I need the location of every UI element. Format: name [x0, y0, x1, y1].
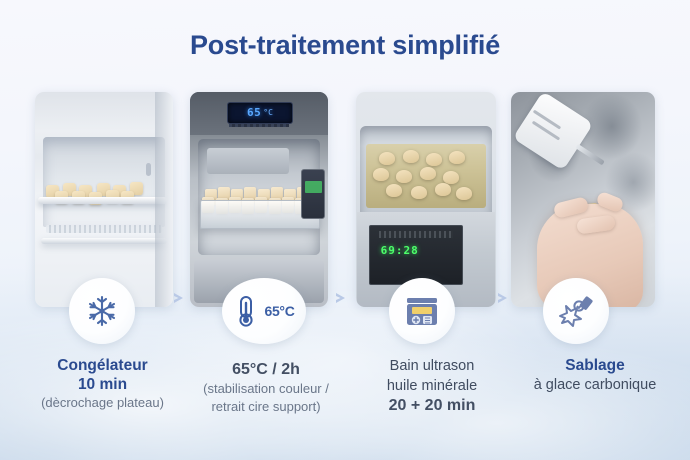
step-1-title: Congélateur [10, 356, 195, 375]
step-4-note: à glace carbonique [500, 375, 690, 395]
step-2-caption: 65°C / 2h (stabilisation couleur / retra… [176, 360, 356, 416]
badge-temperature-label: 65°C [264, 303, 294, 319]
step-2-note-line-1: (stabilisation couleur / [176, 380, 356, 398]
step-3-badge [389, 278, 455, 344]
step-3-title: Bain ultrason [352, 356, 512, 376]
step-2-photo: 65 °C [190, 92, 328, 307]
step-2-oven: 65 °C [190, 92, 328, 307]
step-4-sandblasting [511, 92, 655, 307]
step-4-caption: Sablage à glace carbonique [500, 356, 690, 395]
ultrasonic-cleaner-icon [404, 294, 440, 328]
chevron-right-icon-2 [333, 288, 353, 308]
oven-control-strip [229, 124, 290, 127]
chevron-right-icon-3 [495, 288, 515, 308]
step-4-badge [543, 278, 609, 344]
step-4-title: Sablage [500, 356, 690, 375]
step-4-photo [511, 92, 655, 307]
freezer-door-edge [155, 92, 173, 307]
bath-parts-group [373, 150, 479, 197]
step-1-freezer [35, 92, 173, 307]
sandblaster-sparkle-icon [557, 294, 595, 328]
step-3-photo: 69:28 [356, 92, 496, 307]
step-1-photo [35, 92, 173, 307]
oven-display: 65 °C [227, 102, 292, 124]
step-2-note-line-2: retrait cire support) [176, 398, 356, 416]
oven-display-unit: °C [263, 108, 273, 117]
oven-side-controller [301, 169, 325, 218]
thermometer-icon [233, 294, 259, 328]
bath-control-panel: 69:28 [369, 225, 463, 285]
step-2-badge: 65°C [222, 278, 306, 344]
freezer-shelf-lower [41, 238, 168, 244]
step-2-duration: 65°C / 2h [176, 360, 356, 380]
step-3-duration: 20 + 20 min [352, 396, 512, 416]
step-3-ultrasonic-bath: 69:28 [356, 92, 496, 307]
step-1-duration: 10 min [10, 375, 195, 394]
freezer-wire-rack [46, 225, 162, 233]
steps-row: 65 °C [0, 92, 690, 307]
step-1-note: (dècrochage plateau) [10, 394, 195, 412]
step-3-subtitle: huile minérale [352, 376, 512, 396]
step-1-caption: Congélateur 10 min (dècrochage plateau) [10, 356, 195, 412]
freezer-latch [146, 163, 151, 176]
page-title: Post-traitement simplifié [0, 30, 690, 61]
oven-back-wall [207, 148, 290, 174]
chevron-right-icon-1 [171, 288, 191, 308]
bath-panel-labels [379, 231, 453, 238]
step-3-caption: Bain ultrason huile minérale 20 + 20 min [352, 356, 512, 416]
step-1-badge [69, 278, 135, 344]
oven-display-value: 65 [247, 106, 261, 119]
freezer-shelf-upper [38, 197, 168, 204]
bath-display-value: 69:28 [381, 244, 446, 267]
snowflake-icon [85, 294, 119, 328]
